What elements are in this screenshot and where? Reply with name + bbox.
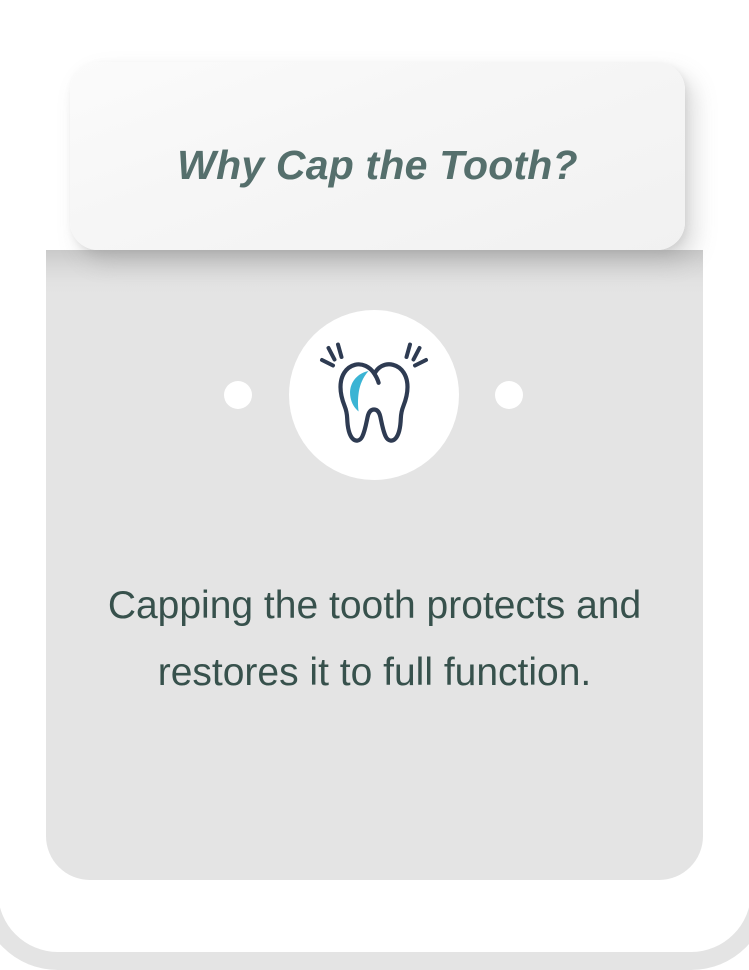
sparkle-left <box>322 345 342 366</box>
tooth-icon-badge <box>289 310 459 480</box>
icon-row <box>46 310 703 482</box>
decorative-dot-right <box>495 381 523 409</box>
card-body-text: Capping the tooth protects and restores … <box>46 572 703 706</box>
page-title: Why Cap the Tooth? <box>177 142 578 189</box>
tooth-outline <box>341 364 408 440</box>
tooth-sparkle-icon <box>314 335 434 455</box>
tab-drop-shadow <box>46 250 703 296</box>
sparkle-right <box>407 345 427 366</box>
tooth-highlight <box>350 371 368 412</box>
decorative-dot-left <box>224 381 252 409</box>
title-tab: Why Cap the Tooth? <box>70 62 685 250</box>
